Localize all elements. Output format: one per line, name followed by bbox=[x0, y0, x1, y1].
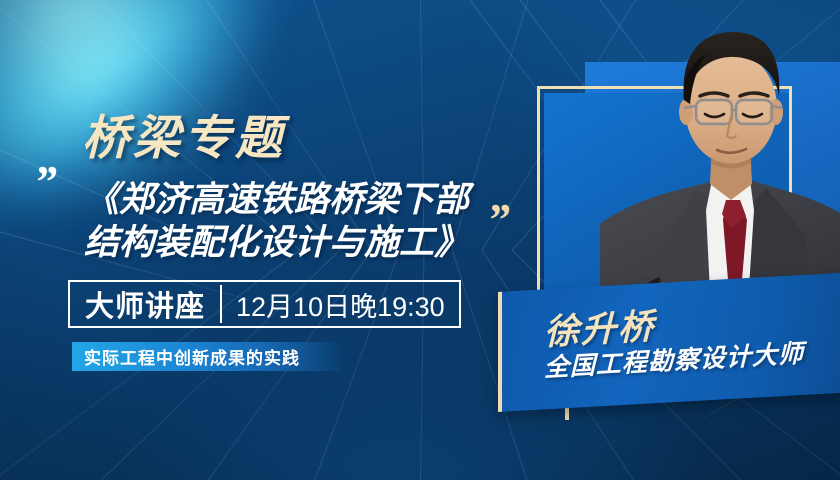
tagline-text: 实际工程中创新成果的实践 bbox=[72, 344, 300, 369]
tagline-banner: 实际工程中创新成果的实践 bbox=[72, 342, 340, 371]
lecture-subtitle-line2: 结构装配化设计与施工》 bbox=[84, 221, 504, 264]
quote-open-icon: ” bbox=[34, 168, 54, 196]
lecture-subtitle: 《郑济高速铁路桥梁下部 结构装配化设计与施工》 bbox=[84, 178, 504, 265]
speaker-nameplate-content: 徐升桥 全国工程勘察设计大师 bbox=[498, 272, 840, 412]
lecture-time: 12月10日晚19:30 bbox=[222, 282, 459, 326]
webinar-poster: 徐升桥 全国工程勘察设计大师 桥梁专题 ” ” 《郑济高速铁路桥梁下部 结构装配… bbox=[0, 0, 840, 480]
lecture-tag-label: 大师讲座 bbox=[70, 282, 220, 326]
lecture-info-box: 大师讲座 12月10日晚19:30 bbox=[68, 280, 461, 328]
lecture-subtitle-line1: 《郑济高速铁路桥梁下部 bbox=[84, 178, 504, 221]
page-title: 桥梁专题 bbox=[82, 99, 286, 168]
